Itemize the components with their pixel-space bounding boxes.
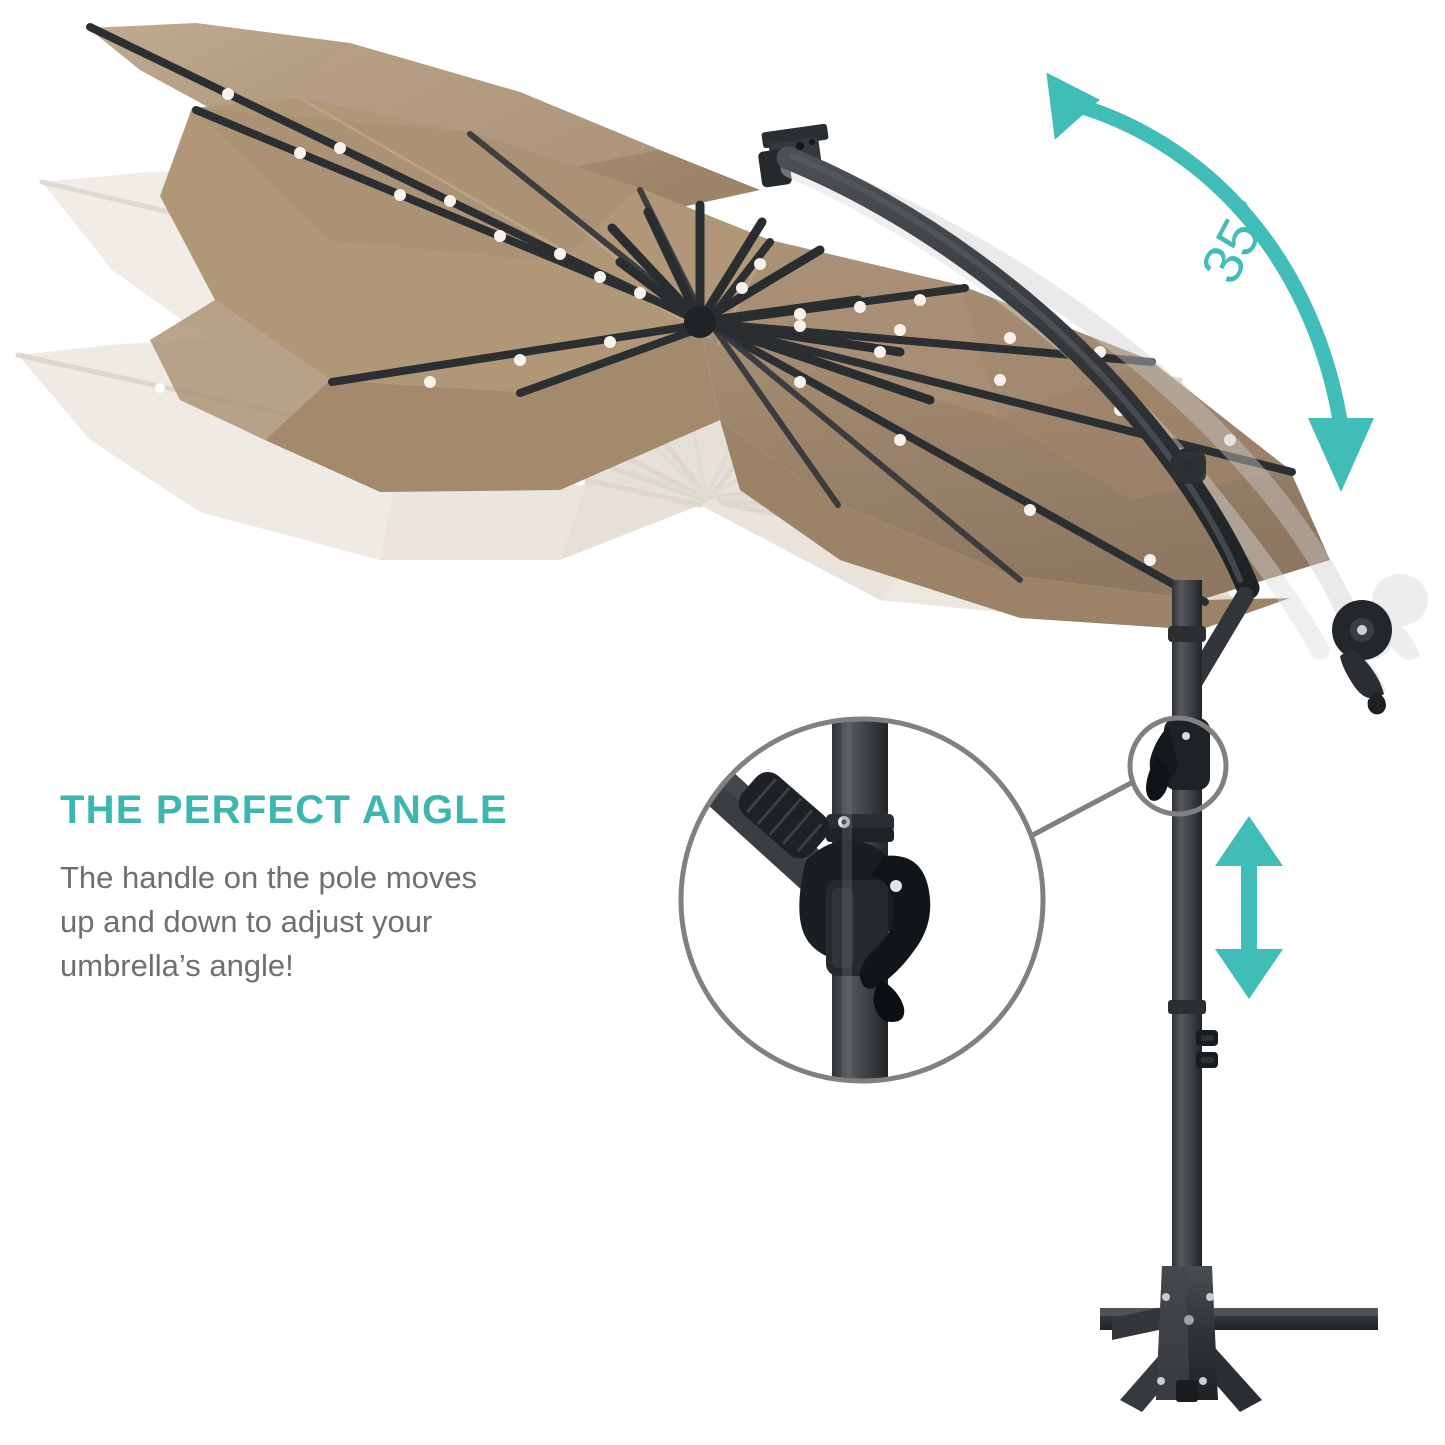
height-adjust-arrow: [1215, 816, 1283, 999]
crank-handle: [1332, 600, 1392, 714]
tilt-clamp-assembly: [1146, 718, 1210, 801]
product-illustration-stage: 35°: [0, 0, 1445, 1445]
page-title: THE PERFECT ANGLE: [60, 790, 660, 830]
canopy-hub: [684, 306, 716, 338]
pole-collar-lower: [1168, 1000, 1206, 1014]
body-line-3: umbrella’s angle!: [60, 944, 660, 988]
magnifier-detail-circle: [676, 700, 1048, 1100]
body-line-2: up and down to adjust your: [60, 900, 660, 944]
arm-mid-joint: [1170, 448, 1206, 484]
body-line-1: The handle on the pole moves: [60, 856, 660, 900]
pole-collar-upper: [1168, 626, 1206, 642]
copy-block: THE PERFECT ANGLE The handle on the pole…: [60, 790, 660, 988]
angle-label-35: 35°: [1188, 189, 1283, 293]
umbrella-cross-base: [1100, 1266, 1378, 1412]
umbrella-canopy: [88, 23, 1330, 630]
body-copy: The handle on the pole moves up and down…: [60, 856, 660, 988]
